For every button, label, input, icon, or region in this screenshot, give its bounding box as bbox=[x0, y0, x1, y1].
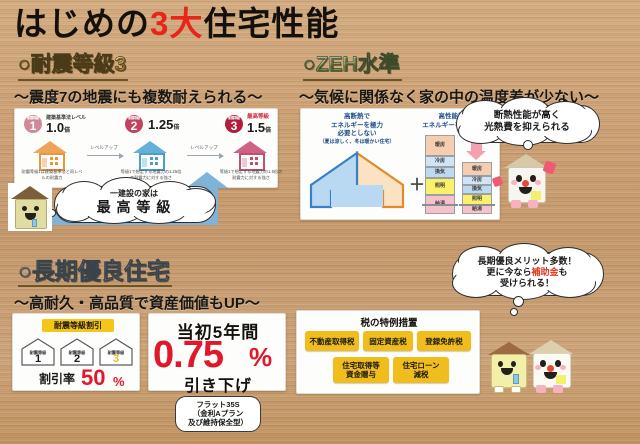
seismic-heading: 耐震等級3 bbox=[31, 53, 127, 76]
grade-3-badge-number: 3 bbox=[231, 120, 238, 132]
mascot-pink-cheek-left bbox=[535, 365, 541, 370]
levelup-label-2: レベルアップ bbox=[185, 145, 223, 151]
grade-1-value-number: 1.0 bbox=[46, 120, 64, 135]
flat35-line2: （金利Aプラン bbox=[176, 409, 260, 418]
bar-before-lighting: 照明 bbox=[425, 178, 455, 195]
energy-bar-before: 暖房 冷房 換気 照明 給湯 bbox=[425, 135, 455, 214]
longterm-cloud-tail-dot-2 bbox=[510, 308, 518, 316]
energy-bar-after: 暖房 冷房 換気 照明 給湯 bbox=[462, 162, 492, 214]
rate-card-footer: 引き下げ bbox=[149, 372, 287, 396]
house-icon-grade-2 bbox=[133, 141, 167, 167]
levelup-arrow-2 bbox=[187, 155, 221, 156]
zeh-left-caption-line3: 必要としない bbox=[307, 130, 407, 139]
grade-3-unit: 倍 bbox=[265, 128, 271, 134]
tax-tag-acquisition[interactable]: 不動産取得税 bbox=[305, 331, 359, 351]
mascot-yellow-window bbox=[513, 374, 519, 384]
discount-tag: 耐震等級割引 bbox=[42, 319, 114, 332]
discount-grade-3-number: 3 bbox=[99, 353, 133, 365]
grade-3-description: 等級1で想定する地震力の1.5倍の耐震力に対する強さ bbox=[219, 169, 283, 181]
longterm-cloud-line2-c: も bbox=[559, 267, 568, 277]
title-part2: 住宅性能 bbox=[203, 5, 339, 42]
zeh-left-caption-line1: 高断熱で bbox=[307, 113, 407, 122]
grade-2-unit: 倍 bbox=[173, 125, 179, 131]
tax-tag-loan-deduction[interactable]: 住宅ローン 減税 bbox=[393, 357, 449, 383]
seismic-cloud-line2: 最 高 等 級 bbox=[58, 200, 210, 215]
grade-2-value-number: 1.25 bbox=[148, 117, 173, 132]
grade-2-value: 1.25倍 bbox=[148, 118, 179, 135]
tax-tag-registration[interactable]: 登録免許税 bbox=[417, 331, 471, 351]
section-header-longterm: ○長期優良住宅 bbox=[18, 258, 172, 287]
infographic-root: はじめの3大住宅性能 ○耐震等級3 〜震度7の地震にも複数耐えられる〜 ○ZEH… bbox=[0, 0, 640, 444]
mascot-cheek-left bbox=[511, 180, 517, 185]
grade-3-value: 1.5倍 bbox=[247, 121, 271, 138]
zeh-cloud-line1: 断熱性能が高く bbox=[460, 110, 594, 122]
energy-bar-after-baseline bbox=[459, 204, 495, 206]
mascot-foot-left bbox=[511, 200, 521, 208]
seismic-grade-card: 耐震等級 1 建築基準法レベル 1.0倍 耐震等級1は建築基準法と同レベルの耐震… bbox=[14, 108, 278, 188]
levelup-arrowhead-2 bbox=[219, 153, 224, 159]
longterm-cloud-tail-dot-1 bbox=[513, 296, 524, 307]
longterm-cloud-line2: 更に今なら補助金も bbox=[456, 267, 598, 278]
tax-card: 税の特例措置 不動産取得税 固定資産税 登録免許税 住宅取得等 資金贈与 住宅ロ… bbox=[296, 310, 480, 394]
grade-2-badge-number: 2 bbox=[131, 120, 138, 132]
grade-3-badge: 耐震等級 3 bbox=[225, 115, 243, 133]
zeh-arrow-house-icon bbox=[309, 151, 405, 209]
levelup-arrowhead-1 bbox=[119, 153, 124, 159]
bar-after-heating: 暖房 bbox=[462, 162, 492, 176]
discount-grade-2-number: 2 bbox=[60, 353, 94, 365]
heart-icon-left bbox=[492, 176, 504, 188]
grade-1-badge: 耐震等級 1 bbox=[24, 115, 42, 133]
zeh-plus-sign: ＋ bbox=[409, 171, 425, 195]
mascot-pink-nose bbox=[547, 365, 554, 372]
longterm-heading: 長期優良住宅 bbox=[32, 258, 170, 284]
mascot-window bbox=[531, 191, 541, 200]
zeh-heading: ZEH水準 bbox=[316, 53, 400, 76]
mascot-pink-foot-left bbox=[536, 385, 546, 393]
section-header-seismic: ○耐震等級3 bbox=[18, 52, 128, 81]
discount-rate-label: 割引率 bbox=[39, 370, 75, 387]
house-icon-grade-1 bbox=[33, 141, 67, 167]
house-mascot-green bbox=[8, 183, 52, 231]
mascot-yellow-foot-left bbox=[494, 386, 504, 393]
discount-house-grade-3: 耐震等級 3 bbox=[99, 338, 133, 366]
house-mascot-pink bbox=[526, 338, 576, 396]
longterm-cloud-line1: 長期優良メリット多数！ bbox=[456, 256, 598, 267]
discount-house-grade-2: 耐震等級 2 bbox=[60, 338, 94, 366]
longterm-cloud-line3: 受けられる！ bbox=[456, 278, 598, 289]
bar-after-hotwater: 給湯 bbox=[462, 205, 492, 214]
grade-1-unit: 倍 bbox=[64, 128, 70, 134]
longterm-cloud-line2-highlight: 補助金 bbox=[531, 267, 558, 277]
mascot-foot-right bbox=[528, 200, 538, 208]
section-header-zeh: ○ZEH水準 bbox=[303, 52, 402, 81]
discount-grade-1-number: 1 bbox=[21, 353, 55, 365]
seismic-cloud-line1: 一建設の家は bbox=[58, 189, 210, 199]
mascot-yellow-foot-right bbox=[511, 386, 521, 393]
seismic-subheading: 〜震度7の地震にも複数耐えられる〜 bbox=[14, 86, 262, 107]
seismic-marker-icon: ○ bbox=[18, 53, 31, 76]
bar-before-ventilation: 換気 bbox=[425, 167, 455, 178]
zeh-cloud-line2: 光熱費を抑えられる bbox=[460, 122, 594, 134]
bar-after-ventilation: 換気 bbox=[462, 185, 492, 194]
discount-house-grade-1: 耐震等級 1 bbox=[21, 338, 55, 366]
discount-rate-value: 50 bbox=[81, 366, 105, 390]
zeh-cloud-tail-dot bbox=[523, 140, 533, 150]
longterm-cloud-line2-a: 更に今なら bbox=[486, 267, 531, 277]
zeh-left-caption-note: （夏は涼しく、冬は暖かい住宅） bbox=[307, 139, 407, 146]
house-mascot-white bbox=[500, 152, 552, 214]
bar-before-cooling: 冷房 bbox=[425, 156, 455, 167]
grade-1-value: 1.0倍 bbox=[46, 121, 70, 138]
tax-card-title: 税の特例措置 bbox=[297, 315, 481, 329]
longterm-marker-icon: ○ bbox=[18, 258, 32, 284]
levelup-label-1: レベルアップ bbox=[85, 145, 123, 151]
bar-before-heating: 暖房 bbox=[425, 135, 455, 156]
rate-card: 当初5年間 0.75 % 引き下げ bbox=[148, 313, 286, 391]
zeh-marker-icon: ○ bbox=[303, 53, 316, 76]
tax-tag-gift[interactable]: 住宅取得等 資金贈与 bbox=[333, 357, 389, 383]
grade-2-badge: 耐震等級 2 bbox=[125, 115, 143, 133]
levelup-arrow-1 bbox=[87, 155, 121, 156]
mascot-cheek-right bbox=[535, 180, 541, 185]
grade-3-value-number: 1.5 bbox=[247, 120, 265, 135]
house-icon-grade-3 bbox=[233, 141, 267, 167]
mascot-pink-cheek-right bbox=[560, 365, 566, 370]
flat35-line3: 及び維持保全型） bbox=[176, 418, 260, 427]
grade-1-badge-number: 1 bbox=[30, 120, 37, 132]
tax-tag-fixed-asset[interactable]: 固定資産税 bbox=[363, 331, 413, 351]
zeh-left-caption: 高断熱で エネルギーを極力 必要としない （夏は涼しく、冬は暖かい住宅） bbox=[307, 113, 407, 146]
rate-card-value: 0.75 bbox=[153, 336, 223, 374]
mascot-pink-foot-right bbox=[553, 385, 563, 393]
page-title: はじめの3大住宅性能 bbox=[14, 3, 494, 45]
mascot-nose bbox=[522, 180, 529, 187]
zeh-left-caption-line2: エネルギーを極力 bbox=[307, 122, 407, 131]
flat35-pill: フラット35S （金利Aプラン 及び維持保全型） bbox=[175, 396, 261, 432]
flat35-line1: フラット35S bbox=[176, 400, 260, 409]
energy-bar-before-baseline bbox=[422, 204, 458, 206]
mascot-pink-window bbox=[556, 375, 566, 384]
reduction-arrow-head bbox=[466, 151, 486, 160]
longterm-subheading: 〜高耐久・高品質で資産価値もUP〜 bbox=[14, 292, 260, 313]
grade-1-description: 耐震等級1は建築基準法と同レベルの耐震力 bbox=[21, 169, 83, 181]
discount-card: 耐震等級割引 耐震等級 1 耐震等級 2 耐震等級 3 割引率 50 % bbox=[12, 313, 140, 391]
discount-rate-unit: % bbox=[113, 374, 125, 389]
title-part1: はじめの bbox=[14, 5, 150, 42]
bar-after-cooling: 冷房 bbox=[462, 176, 492, 185]
title-highlight: 3大 bbox=[150, 5, 203, 42]
rate-card-unit: % bbox=[249, 344, 272, 370]
